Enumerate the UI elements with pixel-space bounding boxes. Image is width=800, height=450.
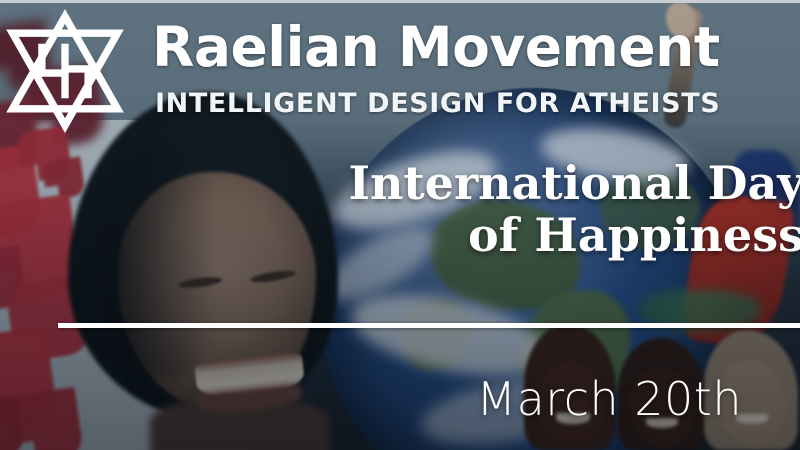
logo-subtitle: INTELLIGENT DESIGN FOR ATHEISTS: [155, 90, 720, 117]
headline-line-1: International Day: [284, 158, 800, 210]
promotional-banner: Raelian Movement INTELLIGENT DESIGN FOR …: [0, 0, 800, 450]
heart-icon: [54, 156, 83, 185]
top-edge-strip: [0, 0, 800, 3]
logo-lockup: Raelian Movement INTELLIGENT DESIGN FOR …: [0, 6, 700, 131]
logo-title: Raelian Movement: [152, 20, 720, 75]
divider: [58, 323, 800, 328]
headline-line-2: of Happiness: [284, 210, 800, 262]
event-date: March 20th: [0, 372, 742, 426]
page-title: International Day of Happiness: [284, 158, 800, 261]
woman-face-shadow: [96, 148, 216, 378]
raelian-star-swirl-icon: [2, 8, 128, 134]
